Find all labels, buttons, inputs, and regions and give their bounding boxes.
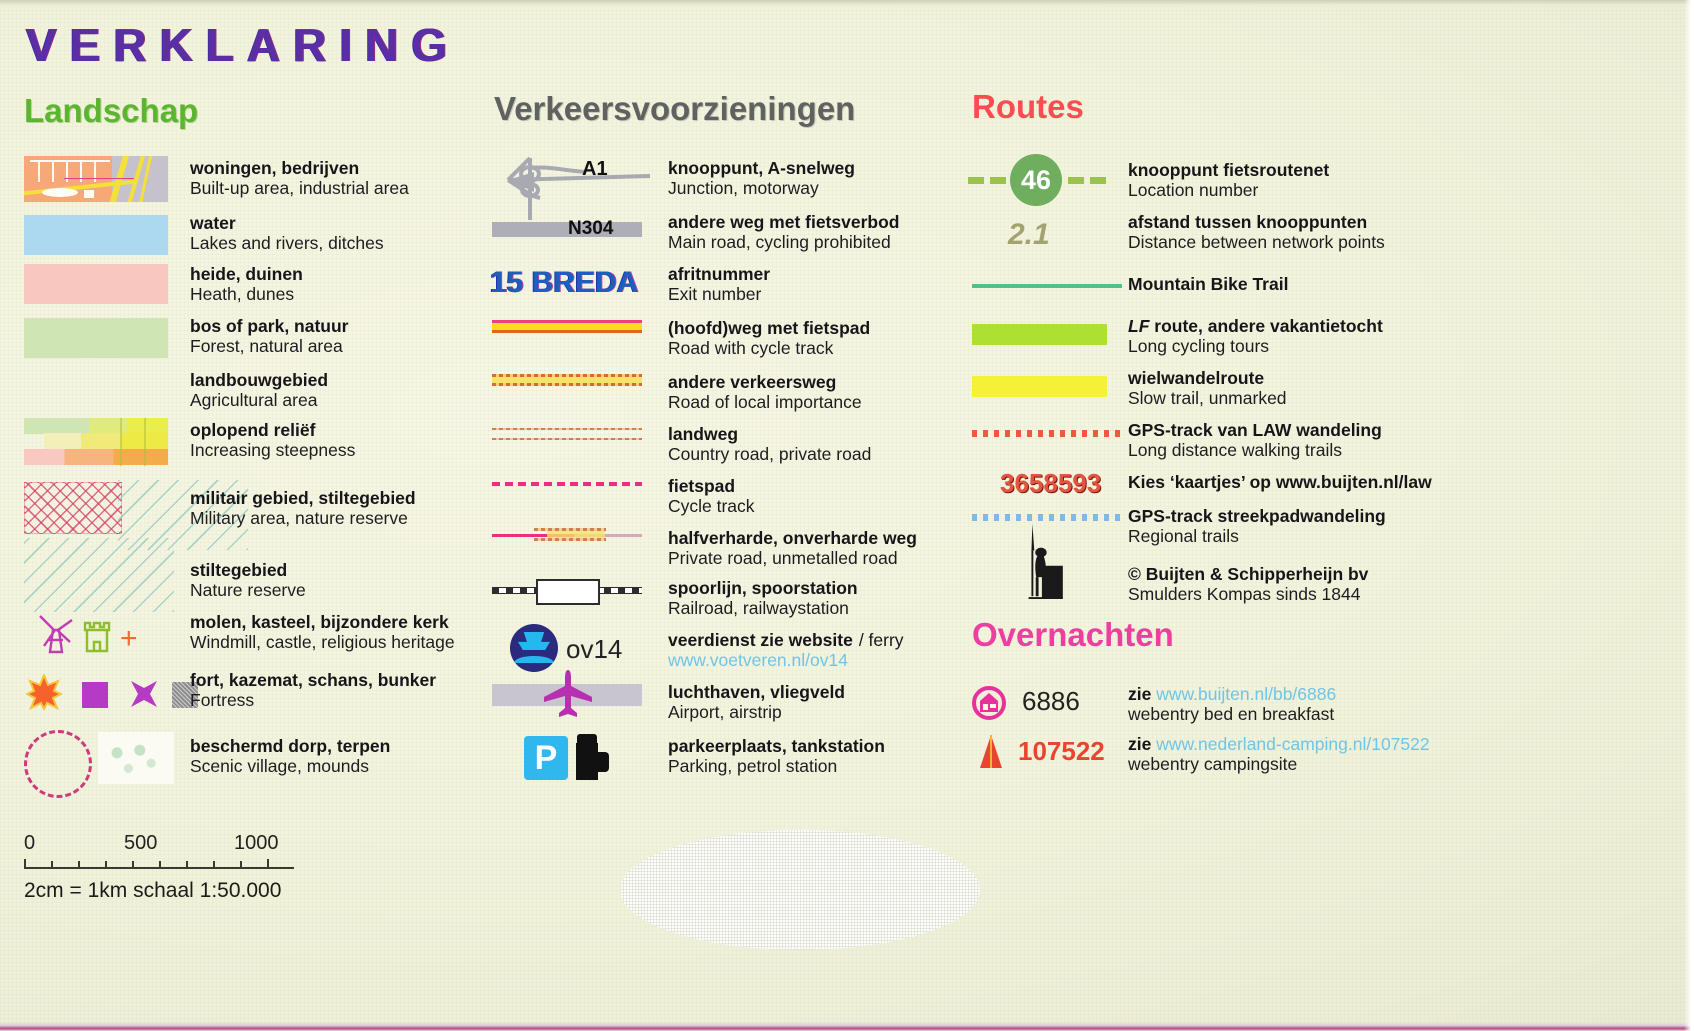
legend-label-nl: afritnummer: [668, 264, 770, 284]
road-with-cycletrack-lines: [492, 320, 642, 342]
cycle-track-dashed-line: [492, 482, 642, 488]
legend-label-nl: wielwandelroute: [1128, 368, 1287, 388]
legend-label-en: Increasing steepness: [190, 440, 355, 460]
mounds-patch-icon: [98, 732, 174, 784]
law-dotted-line: [972, 430, 1122, 437]
gps-code-text: 3658593: [1000, 468, 1101, 499]
legend-label-en: Built-up area, industrial area: [190, 178, 409, 198]
legend-label-en: Scenic village, mounds: [190, 756, 390, 776]
bb-prefix: zie: [1128, 684, 1151, 704]
main-road-bar: [492, 222, 642, 237]
mtb-trail-line: [972, 284, 1122, 288]
legend-label-en: Nature reserve: [190, 580, 306, 600]
legend-label-nl: bos of park, natuur: [190, 316, 348, 336]
ferry-link[interactable]: www.voetveren.nl/ov14: [668, 650, 904, 670]
bb-link[interactable]: www.buijten.nl/bb/6886: [1156, 684, 1336, 704]
local-road-lines: [492, 374, 642, 396]
legend-label-nl: halfverharde, onverharde weg: [668, 528, 917, 548]
legend-label-en: Distance between network points: [1128, 232, 1385, 252]
motorway-number-label: A1: [582, 158, 608, 181]
ferry-label-suffix: / ferry: [859, 630, 904, 650]
legend-label-nl: militair gebied, stiltegebied: [190, 488, 416, 508]
legend-label-nl: beschermd dorp, terpen: [190, 736, 390, 756]
legend-label-nl: stiltegebied: [190, 560, 306, 580]
legend-label-en: Long distance walking trails: [1128, 440, 1382, 460]
sheet-edge-bottom: [0, 1022, 1694, 1031]
scale-caption: 2cm = 1km schaal 1:50.000: [24, 879, 324, 903]
legend-label-en: webentry bed en breakfast: [1128, 704, 1336, 724]
scale-tick-label: 0: [24, 832, 35, 855]
unmetalled-road-lines: [492, 526, 642, 550]
legend-label-en: Parking, petrol station: [668, 756, 885, 776]
kazemat-square-icon: [82, 682, 108, 708]
motorway-junction-icon: [500, 150, 650, 222]
legend-label-en: Regional trails: [1128, 526, 1386, 546]
bed-and-breakfast-icon: [972, 686, 1006, 720]
legend-label-en: Country road, private road: [668, 444, 871, 464]
legend-label-nl: molen, kasteel, bijzondere kerk: [190, 612, 455, 632]
legend-label-nl: fort, kazemat, schans, bunker: [190, 670, 436, 690]
legend-label-nl: andere weg met fietsverbod: [668, 212, 899, 232]
legend-label-nl: Kies ‘kaartjes’ op www.buijten.nl/law: [1128, 472, 1432, 492]
legend-label-nl: landweg: [668, 424, 871, 444]
legend-label-nl: heide, duinen: [190, 264, 303, 284]
legend-label-en: Fortress: [190, 690, 436, 710]
regional-dotted-line: [972, 514, 1122, 521]
legend-label-nl: LF route, andere vakantietocht: [1128, 316, 1383, 336]
legend-label-nl: zie www.buijten.nl/bb/6886: [1128, 684, 1336, 704]
fuel-station-icon: [576, 734, 610, 780]
slow-trail-band: [972, 376, 1107, 397]
windmill-icon: [36, 612, 76, 654]
legend-label-nl: fietspad: [668, 476, 755, 496]
page-title: VERKLARING: [26, 18, 460, 72]
scale-bar: 0 500 1000 2cm = 1km schaal 1:50.000: [24, 832, 324, 903]
legend-label-nl: (hoofd)weg met fietspad: [668, 318, 870, 338]
legend-label-en: Forest, natural area: [190, 336, 348, 356]
legend-label-nl: knooppunt, A-snelweg: [668, 158, 855, 178]
section-heading-routes: Routes: [972, 88, 1084, 126]
legend-label-en: Private road, unmetalled road: [668, 548, 917, 568]
scan-glare: [620, 830, 980, 950]
legend-label-en: Long cycling tours: [1128, 336, 1383, 356]
section-heading-verkeer: Verkeersvoorzieningen: [494, 90, 855, 128]
campsite-link[interactable]: www.nederland-camping.nl/107522: [1156, 734, 1429, 754]
military-hatch-swatch: [24, 482, 122, 534]
legend-label-en: Lakes and rivers, ditches: [190, 233, 384, 253]
section-heading-landschap: Landschap: [24, 92, 198, 130]
ferry-label-nl: veerdienst zie website: [668, 630, 853, 650]
ferry-code-label: ov14: [566, 634, 622, 665]
lf-route-band: [972, 324, 1107, 345]
castle-icon: [82, 618, 112, 654]
forest-swatch: [24, 318, 168, 358]
legend-label-nl: woningen, bedrijven: [190, 158, 409, 178]
legend-label-nl: spoorlijn, spoorstation: [668, 578, 858, 598]
legend-label-en: Road of local importance: [668, 392, 862, 412]
builtup-area-swatch: [24, 156, 168, 202]
legend-label-en: Windmill, castle, religious heritage: [190, 632, 455, 652]
campsite-prefix: zie: [1128, 734, 1151, 754]
lf-label-rest: route, andere vakantietocht: [1154, 316, 1383, 336]
node-number-icon: 46: [968, 154, 1108, 206]
legend-label-nl: water: [190, 213, 384, 233]
scenic-village-circle-icon: [24, 730, 92, 798]
legend-label-en: Military area, nature reserve: [190, 508, 416, 528]
campsite-number: 107522: [1018, 736, 1105, 767]
railway-icon: [492, 578, 642, 602]
main-road-number-label: N304: [568, 218, 613, 240]
legend-label-nl: veerdienst zie website/ ferry: [668, 630, 904, 650]
fort-star-icon: [26, 674, 62, 710]
campsite-icon: [978, 734, 1004, 770]
legend-label-en: Slow trail, unmarked: [1128, 388, 1287, 408]
sheet-edge-right: [1684, 0, 1694, 1031]
legend-label-en: Exit number: [668, 284, 770, 304]
airplane-icon: [540, 666, 596, 722]
heath-swatch: [24, 264, 168, 304]
legend-label-en: Junction, motorway: [668, 178, 855, 198]
legend-label-nl: zie www.nederland-camping.nl/107522: [1128, 734, 1430, 754]
legend-label-nl: luchthaven, vliegveld: [668, 682, 845, 702]
bb-number: 6886: [1022, 686, 1080, 717]
legend-label-en: Airport, airstrip: [668, 702, 845, 722]
legend-label-en: webentry campingsite: [1128, 754, 1430, 774]
legend-label-nl: knooppunt fietsroutenet: [1128, 160, 1329, 180]
legend-label-nl: landbouwgebied: [190, 370, 328, 390]
node-number-value: 46: [1010, 154, 1062, 206]
legend-label-en: Agricultural area: [190, 390, 328, 410]
publisher-statue-icon: [1010, 522, 1070, 600]
distance-number-text: 2.1: [1008, 218, 1050, 252]
water-swatch: [24, 215, 168, 255]
legend-label-en: Heath, dunes: [190, 284, 303, 304]
exit-number-text: 15 BREDA: [490, 266, 638, 300]
legend-label-en: Railroad, railwaystation: [668, 598, 858, 618]
legend-label-nl: parkeerplaats, tankstation: [668, 736, 885, 756]
legend-label-en: Location number: [1128, 180, 1329, 200]
parking-icon: P: [524, 736, 568, 780]
scale-tick-label: 1000: [234, 832, 279, 855]
legend-label-en: Main road, cycling prohibited: [668, 232, 899, 252]
sheet-edge-top: [0, 0, 1694, 6]
ferry-icon: [510, 624, 558, 672]
nature-reserve-hatch-swatch: [24, 538, 174, 612]
publisher-copyright: © Buijten & Schipperheijn bv: [1128, 564, 1368, 584]
publisher-subtitle: Smulders Kompas sinds 1844: [1128, 584, 1368, 604]
relief-swatch: [24, 418, 168, 466]
legend-label-en: Road with cycle track: [668, 338, 870, 358]
legend-label-nl: oplopend reliëf: [190, 420, 355, 440]
schans-icon: [128, 678, 160, 710]
legend-label-nl: afstand tussen knooppunten: [1128, 212, 1385, 232]
scale-tick-label: 500: [124, 832, 157, 855]
legend-label-nl: GPS-track van LAW wandeling: [1128, 420, 1382, 440]
legend-label-en: Cycle track: [668, 496, 755, 516]
religious-heritage-cross-icon: +: [120, 624, 138, 654]
legend-label-nl: GPS-track streekpadwandeling: [1128, 506, 1386, 526]
country-road-lines: [492, 428, 642, 450]
legend-label-nl: andere verkeersweg: [668, 372, 862, 392]
section-heading-overnachten: Overnachten: [972, 616, 1174, 654]
legend-label-nl: Mountain Bike Trail: [1128, 274, 1288, 294]
